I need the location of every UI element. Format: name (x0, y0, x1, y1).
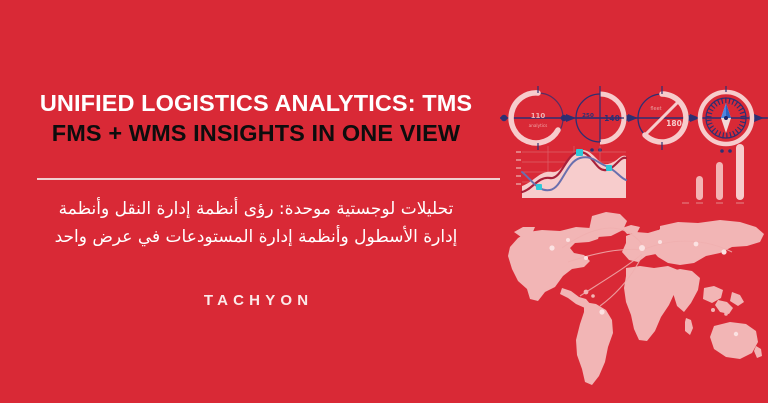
title-divider (37, 178, 500, 180)
bar-3 (736, 144, 744, 200)
area-chart-fill (522, 150, 626, 198)
page-title: UNIFIED LOGISTICS ANALYTICS: TMS FMS + W… (0, 88, 512, 148)
brand-wordmark: TACHYON (199, 292, 314, 309)
infographic-illustration: 110 analytics 250 140 (500, 0, 768, 403)
dial-diagonal-value: 180 (666, 119, 682, 128)
bar-2 (716, 162, 723, 200)
dial-speed-label: analytics (529, 123, 548, 128)
area-chart-ticks (516, 152, 521, 184)
subtitle-arabic: تحليلات لوجستية موحدة: رؤى أنظمة إدارة ا… (0, 196, 512, 251)
headline-line-2: FMS + WMS INSIGHTS IN ONE VIEW (0, 118, 512, 148)
dial-crosshair-right-value: 140 (604, 114, 620, 123)
area-chart (516, 146, 626, 198)
dial-speed-value: 110 (531, 112, 546, 120)
infographic-svg: 110 analytics 250 140 (500, 0, 768, 403)
subtitle-arabic-line-2: إدارة الأسطول وأنظمة إدارة المستودعات في… (0, 224, 512, 252)
brand-logo: TACHYON (0, 292, 512, 310)
dial-diagonal-label: fleet (650, 106, 661, 112)
headline-line-1: UNIFIED LOGISTICS ANALYTICS: TMS (0, 88, 512, 118)
bar-chart (682, 144, 744, 203)
dial-compass (700, 86, 752, 153)
text-block: UNIFIED LOGISTICS ANALYTICS: TMS FMS + W… (0, 0, 512, 403)
subtitle-arabic-line-1: تحليلات لوجستية موحدة: رؤى أنظمة إدارة ا… (0, 196, 512, 224)
dial-crosshair-left-value: 250 (582, 113, 594, 119)
marketing-banner: 110 analytics 250 140 (0, 0, 768, 403)
bar-1 (696, 176, 703, 200)
dial-crosshair: 250 140 (576, 86, 624, 152)
